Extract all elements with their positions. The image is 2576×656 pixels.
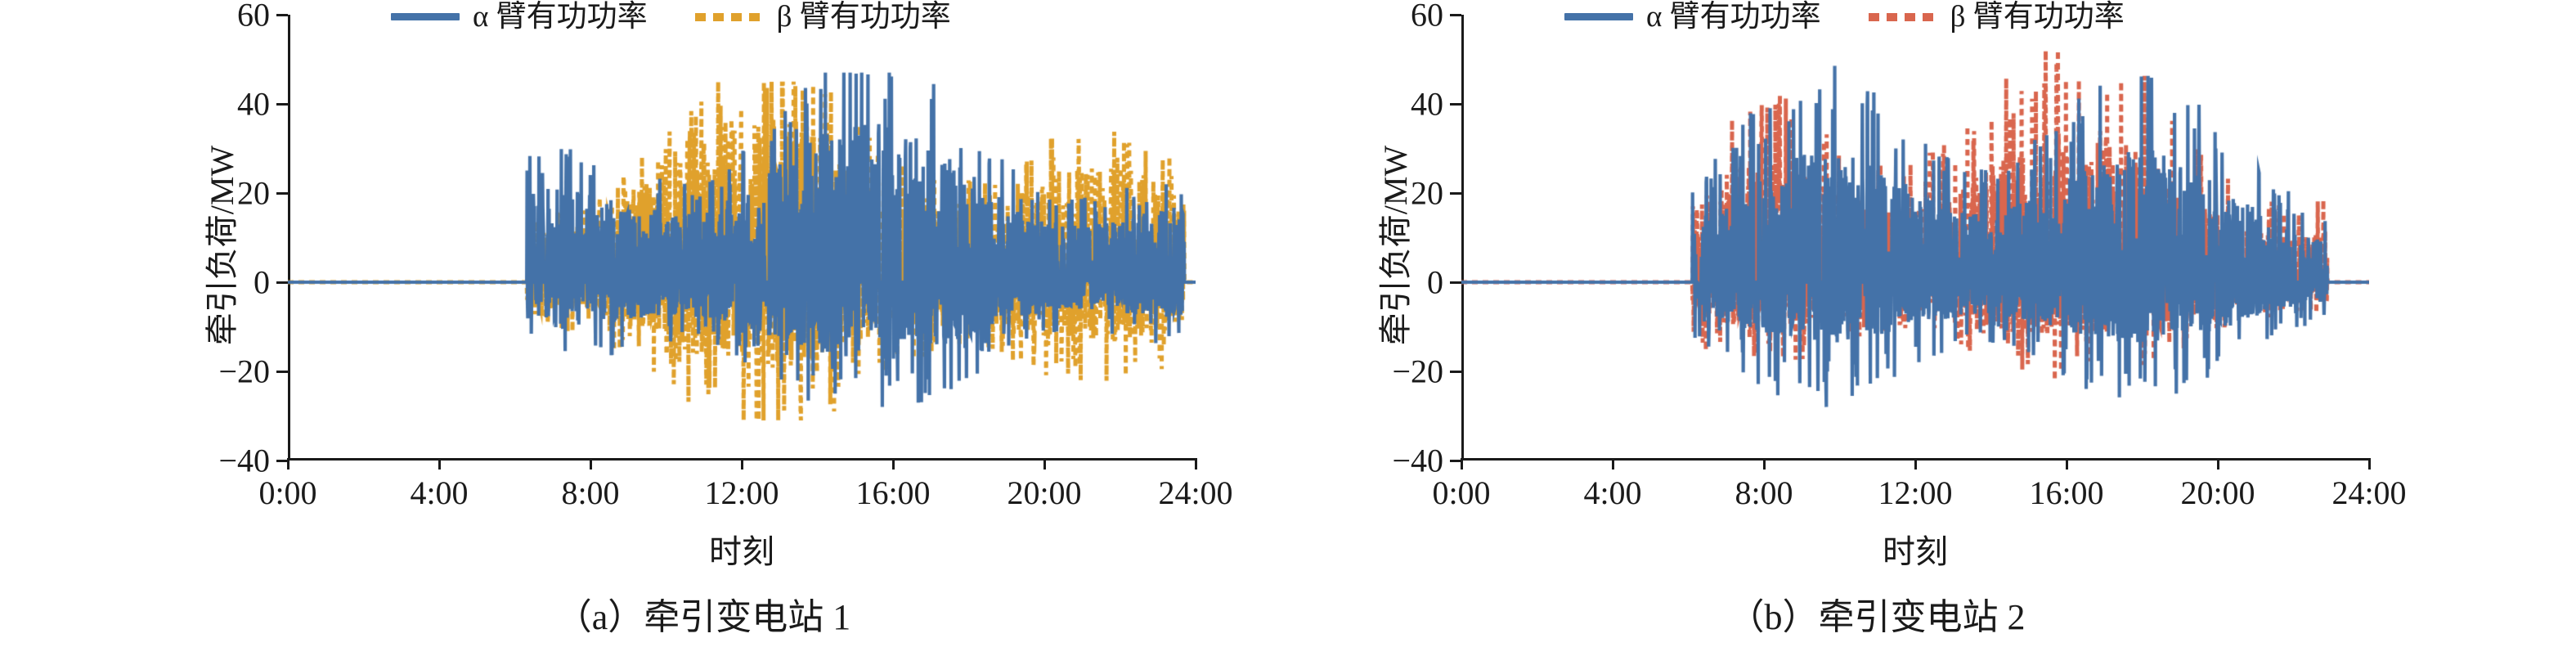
x-axis-tick-label: 0:00 xyxy=(1432,474,1490,512)
y-axis-tick xyxy=(276,192,288,195)
x-axis-tick xyxy=(1914,458,1917,470)
y-axis-tick xyxy=(1450,371,1461,373)
x-axis-tick xyxy=(1612,458,1614,470)
x-axis-tick xyxy=(287,458,289,470)
x-axis-tick-label: 16:00 xyxy=(855,474,930,512)
chart-panel-b: α 臂有功功率 β 臂有功功率 6040200−20−400:004:008:0… xyxy=(1288,0,2576,656)
y-axis-title-b: 牵引负荷/MW xyxy=(1369,146,1416,345)
x-axis-title-b: 时刻 xyxy=(1883,525,1948,573)
x-axis-tick xyxy=(892,458,895,470)
y-axis-tick-label: −20 xyxy=(218,353,270,391)
x-axis-tick xyxy=(2217,458,2219,470)
x-axis-tick xyxy=(2368,458,2371,470)
x-axis-tick xyxy=(1461,458,1463,470)
x-axis-title-a: 时刻 xyxy=(709,525,774,573)
x-axis-tick-label: 0:00 xyxy=(258,474,316,512)
caption-b: （b）牵引变电站 2 xyxy=(1729,587,2026,640)
y-axis-tick-label: 0 xyxy=(1427,263,1443,302)
y-axis-tick xyxy=(276,103,288,106)
y-axis-tick xyxy=(276,371,288,373)
x-axis-tick-label: 4:00 xyxy=(410,474,468,512)
x-axis-tick xyxy=(741,458,743,470)
x-axis-tick xyxy=(438,458,441,470)
x-axis-tick-label: 12:00 xyxy=(704,474,779,512)
x-axis-tick-label: 20:00 xyxy=(2180,474,2255,512)
y-axis-tick-label: 40 xyxy=(1411,85,1443,124)
x-axis-tick xyxy=(1763,458,1766,470)
plot-area-a: 6040200−20−400:004:008:0012:0016:0020:00… xyxy=(288,15,1196,461)
y-axis-tick xyxy=(1450,103,1461,106)
x-axis-tick xyxy=(590,458,592,470)
x-axis-tick xyxy=(1043,458,1046,470)
x-axis-tick-label: 8:00 xyxy=(1735,474,1793,512)
x-axis-tick-label: 8:00 xyxy=(561,474,619,512)
x-axis-tick-label: 20:00 xyxy=(1007,474,1081,512)
x-axis-tick-label: 4:00 xyxy=(1583,474,1641,512)
y-axis-tick xyxy=(1450,14,1461,16)
chart-panel-a: α 臂有功功率 β 臂有功功率 6040200−20−400:004:008:0… xyxy=(0,0,1288,656)
series-plot-b xyxy=(1461,15,2369,461)
x-axis-tick xyxy=(2066,458,2068,470)
caption-a: （a）牵引变电站 1 xyxy=(556,587,851,640)
series-plot-a xyxy=(288,15,1196,461)
x-axis-tick-label: 12:00 xyxy=(1878,474,1952,512)
x-axis-tick-label: 24:00 xyxy=(2331,474,2406,512)
y-axis-tick-label: 60 xyxy=(1411,0,1443,34)
y-axis-title-a: 牵引负荷/MW xyxy=(195,146,243,345)
y-axis-tick xyxy=(276,14,288,16)
y-axis-tick-label: 60 xyxy=(237,0,270,34)
y-axis-tick-label: −20 xyxy=(1392,353,1443,391)
y-axis-tick xyxy=(1450,192,1461,195)
y-axis-tick xyxy=(1450,281,1461,284)
figure-traction-load: α 臂有功功率 β 臂有功功率 6040200−20−400:004:008:0… xyxy=(0,0,2576,656)
x-axis-tick-label: 16:00 xyxy=(2029,474,2103,512)
plot-area-b: 6040200−20−400:004:008:0012:0016:0020:00… xyxy=(1461,15,2369,461)
x-axis-tick xyxy=(1195,458,1197,470)
y-axis-tick-label: 40 xyxy=(237,85,270,124)
y-axis-tick xyxy=(276,281,288,284)
x-axis-tick-label: 24:00 xyxy=(1158,474,1232,512)
y-axis-tick-label: 0 xyxy=(254,263,270,302)
